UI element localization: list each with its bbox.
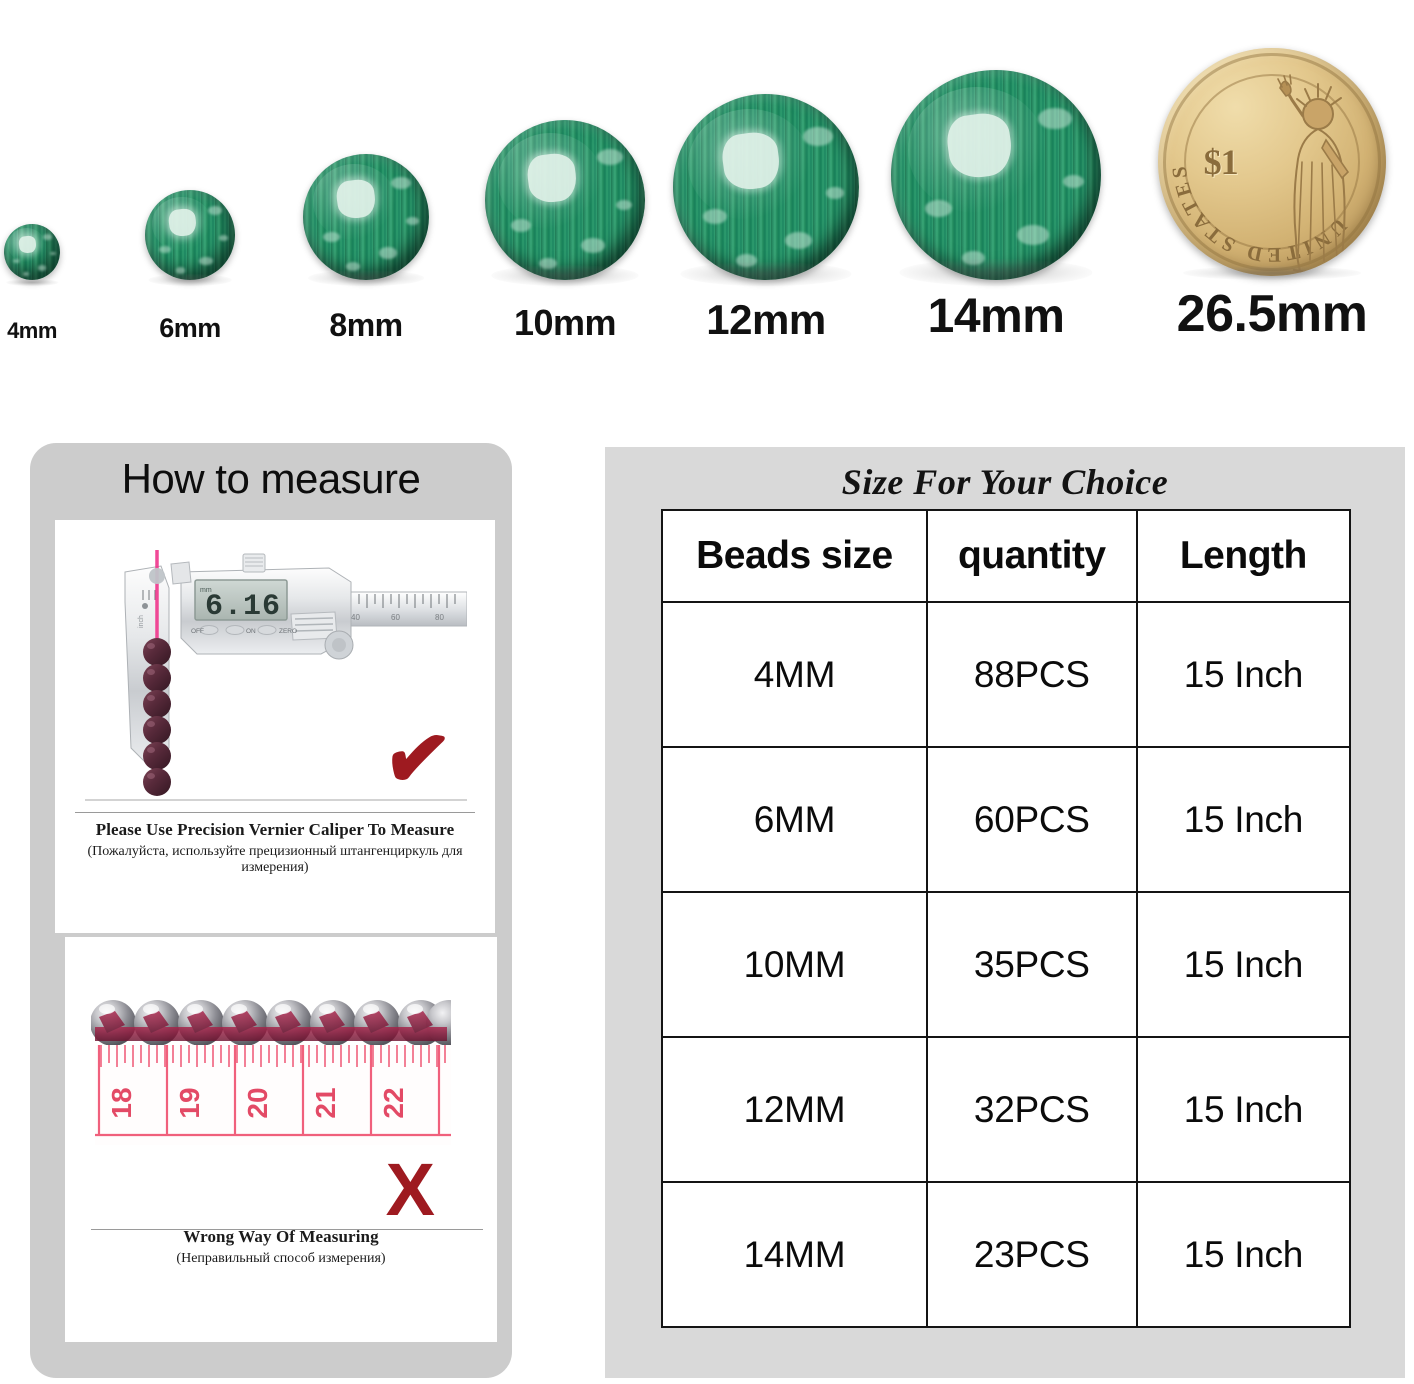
bead-sphere — [4, 224, 60, 280]
malachite-bead — [303, 154, 429, 280]
bead-fleck — [176, 267, 186, 273]
wrong-caption-block: Wrong Way Of Measuring (Неправильный спо… — [65, 1227, 497, 1267]
size-table-title: Size For Your Choice — [605, 461, 1405, 503]
malachite-bead — [891, 70, 1101, 280]
bead-shadow — [899, 259, 1092, 286]
cell-length: 15 Inch — [1137, 1037, 1350, 1182]
svg-text:19: 19 — [174, 1087, 205, 1118]
size-label: 14mm — [928, 289, 1065, 344]
cell-beads-size: 10MM — [662, 892, 927, 1037]
size-sample-8mm: 8mm — [273, 0, 459, 352]
malachite-bead — [485, 120, 645, 280]
svg-text:22: 22 — [378, 1087, 409, 1118]
bead-fleck — [323, 232, 339, 242]
how-to-measure-title: How to measure — [30, 455, 512, 503]
bead-fleck — [159, 246, 171, 253]
bead-fleck — [925, 200, 952, 217]
bead-size-comparison-strip: 4mm6mm8mm10mm12mm14mmUNITED STATES OF AM… — [0, 0, 1414, 352]
size-label: 10mm — [514, 302, 616, 344]
correct-caption-en: Please Use Precision Vernier Caliper To … — [55, 820, 495, 840]
bead-fleck — [785, 232, 813, 249]
bead-shadow — [680, 262, 851, 286]
bead-fleck — [50, 252, 56, 255]
size-sample-26-5mm: UNITED STATES OF AMERICA$126.5mm — [1128, 0, 1414, 352]
correct-check-icon: ✔ — [379, 712, 455, 806]
svg-text:60: 60 — [391, 613, 400, 622]
wrong-caption-ru: (Неправильный способ измерения) — [65, 1251, 497, 1267]
size-label: 4mm — [7, 318, 57, 344]
wrong-method-photo: 18 19 20 21 22 X Wrong Way Of Measuring … — [65, 937, 497, 1342]
size-label: 6mm — [159, 313, 221, 344]
cell-quantity: 88PCS — [927, 602, 1137, 747]
size-label: 8mm — [329, 307, 402, 344]
column-header-length: Length — [1137, 510, 1350, 602]
table-row: 6MM60PCS15 Inch — [662, 747, 1350, 892]
bead-fleck — [38, 265, 46, 270]
bead-highlight — [525, 150, 579, 204]
svg-text:20: 20 — [242, 1087, 273, 1118]
bead-shadow — [308, 270, 424, 286]
svg-text:6.16: 6.16 — [205, 590, 281, 624]
malachite-bead — [4, 224, 60, 280]
size-sample-10mm: 10mm — [455, 0, 675, 352]
bead-fleck — [406, 217, 419, 225]
bead-fleck — [1017, 225, 1049, 245]
size-sample-12mm: 12mm — [643, 0, 889, 352]
bead-fleck — [199, 257, 213, 265]
cell-quantity: 35PCS — [927, 892, 1137, 1037]
coin-denomination: $1 — [1204, 141, 1238, 183]
bead-fleck — [391, 177, 411, 189]
cell-length: 15 Inch — [1137, 602, 1350, 747]
malachite-bead — [673, 94, 859, 280]
bead-sphere — [485, 120, 645, 280]
size-sample-14mm: 14mm — [861, 0, 1131, 352]
size-sample-6mm: 6mm — [115, 0, 265, 352]
svg-text:18: 18 — [106, 1087, 137, 1118]
caption-divider — [75, 812, 475, 813]
bead-fleck — [208, 206, 222, 215]
bead-fleck — [803, 127, 833, 145]
svg-text:inch: inch — [138, 615, 145, 628]
bead-highlight — [168, 207, 198, 237]
wrong-x-icon: X — [386, 1153, 433, 1227]
bead-shadow — [491, 265, 638, 286]
cell-beads-size: 4MM — [662, 602, 927, 747]
statue-of-liberty-icon — [1240, 70, 1382, 276]
svg-text:OFF: OFF — [191, 628, 204, 635]
bead-highlight — [944, 110, 1015, 181]
bead-fleck — [379, 247, 398, 259]
bead-sphere — [891, 70, 1101, 280]
us-dollar-coin: UNITED STATES OF AMERICA$1 — [1158, 48, 1386, 276]
table-header-row: Beads size quantity Length — [662, 510, 1350, 602]
coin-shadow — [1183, 266, 1361, 280]
correct-method-photo: 40 60 80 mm 6.16 — [55, 520, 495, 933]
table-row: 14MM23PCS15 Inch — [662, 1182, 1350, 1327]
correct-caption-ru: (Пожалуйста, используйте прецизионный шт… — [55, 844, 495, 876]
cell-length: 15 Inch — [1137, 747, 1350, 892]
size-label: 12mm — [706, 296, 825, 344]
bead-fleck — [1038, 108, 1072, 129]
bead-fleck — [511, 219, 532, 232]
bead-highlight — [720, 129, 783, 192]
bead-fleck — [826, 187, 845, 199]
table-row: 10MM35PCS15 Inch — [662, 892, 1350, 1037]
svg-text:80: 80 — [435, 613, 444, 622]
bead-fleck — [13, 259, 20, 264]
cell-beads-size: 12MM — [662, 1037, 927, 1182]
bead-fleck — [219, 235, 228, 241]
bead-sphere — [145, 190, 235, 280]
svg-text:ON: ON — [246, 628, 256, 635]
table-row: 4MM88PCS15 Inch — [662, 602, 1350, 747]
bead-fleck — [616, 200, 632, 210]
cell-quantity: 60PCS — [927, 747, 1137, 892]
bead-fleck — [1063, 175, 1084, 188]
bead-fleck — [703, 209, 727, 224]
wrong-caption-en: Wrong Way Of Measuring — [65, 1227, 497, 1247]
bead-fleck — [581, 238, 605, 253]
coin-face: UNITED STATES OF AMERICA$1 — [1158, 48, 1386, 276]
svg-text:ZERO: ZERO — [279, 628, 297, 635]
bead-fleck — [597, 149, 623, 165]
malachite-bead — [145, 190, 235, 280]
bead-sphere — [303, 154, 429, 280]
bead-fleck — [23, 272, 29, 276]
cell-length: 15 Inch — [1137, 892, 1350, 1037]
bead-sphere — [673, 94, 859, 280]
size-table-card: Size For Your Choice Beads size quantity… — [605, 447, 1405, 1378]
cell-quantity: 32PCS — [927, 1037, 1137, 1182]
cell-length: 15 Inch — [1137, 1182, 1350, 1327]
column-header-quantity: quantity — [927, 510, 1137, 602]
size-table: Beads size quantity Length 4MM88PCS15 In… — [661, 509, 1351, 1328]
correct-caption-block: Please Use Precision Vernier Caliper To … — [55, 820, 495, 876]
product-infographic: 4mm6mm8mm10mm12mm14mmUNITED STATES OF AM… — [0, 0, 1414, 1384]
table-row: 12MM32PCS15 Inch — [662, 1037, 1350, 1182]
cell-beads-size: 14MM — [662, 1182, 927, 1327]
how-to-measure-card: How to measure — [30, 443, 512, 1378]
bead-fleck — [43, 234, 52, 240]
cell-beads-size: 6MM — [662, 747, 927, 892]
bead-highlight — [335, 178, 378, 221]
bead-highlight — [18, 235, 37, 254]
bead-shadow — [6, 279, 58, 286]
cell-quantity: 23PCS — [927, 1182, 1137, 1327]
column-header-beads-size: Beads size — [662, 510, 927, 602]
size-label: 26.5mm — [1177, 284, 1368, 344]
size-sample-4mm: 4mm — [0, 0, 92, 352]
bead-shadow — [149, 274, 232, 286]
svg-text:21: 21 — [310, 1087, 341, 1118]
svg-text:40: 40 — [351, 613, 360, 622]
